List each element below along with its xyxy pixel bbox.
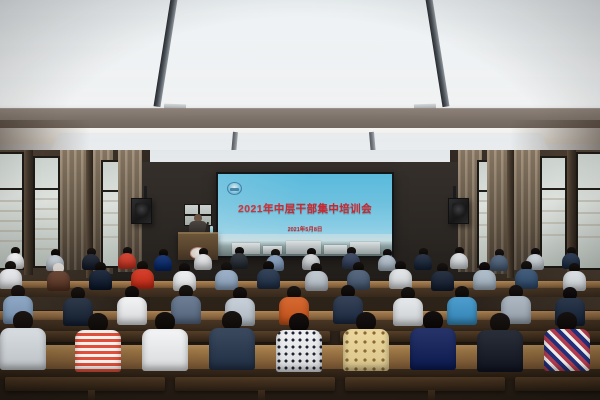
audience-member-torso <box>343 329 389 371</box>
audience-member-torso <box>477 330 523 372</box>
audience-member-torso <box>544 329 590 371</box>
audience-member-torso <box>257 269 280 289</box>
audience-member-torso <box>194 254 212 270</box>
audience-member <box>544 312 590 373</box>
audience-member <box>154 249 172 273</box>
audience-member-torso <box>276 330 322 372</box>
audience-member <box>276 313 322 374</box>
audience-member-torso <box>75 330 121 372</box>
audience-member <box>194 248 212 272</box>
audience-member-torso <box>142 329 188 371</box>
audience-member <box>257 261 280 291</box>
audience-member-torso <box>414 254 432 270</box>
audience-member-torso <box>410 328 456 370</box>
audience-member <box>414 248 432 272</box>
right-wall-loudspeaker <box>448 198 469 224</box>
audience-member <box>410 311 456 372</box>
audience-member-torso <box>209 328 255 370</box>
audience-member <box>0 311 46 372</box>
audience-member-torso <box>0 328 46 370</box>
audience-member <box>209 311 255 372</box>
left-wall-loudspeaker <box>131 198 152 224</box>
conference-hall-photo: 2021年中层干部集中培训会 2021年5月8日 <box>0 0 600 400</box>
audience-member <box>343 312 389 373</box>
organization-emblem-icon <box>227 182 242 195</box>
projection-slide: 2021年中层干部集中培训会 2021年5月8日 <box>218 174 392 256</box>
audience-member <box>142 312 188 373</box>
ceiling <box>0 0 600 175</box>
audience-member <box>75 313 121 374</box>
podium-water-bottle <box>210 226 213 233</box>
slide-date: 2021年5月8日 <box>218 225 392 233</box>
audience-member-torso <box>389 269 412 289</box>
audience-area <box>0 245 600 400</box>
ceiling-outer-panel <box>0 0 600 120</box>
slide-title: 2021年中层干部集中培训会 <box>218 201 392 216</box>
audience-member <box>477 313 523 374</box>
audience-member-torso <box>154 255 172 271</box>
